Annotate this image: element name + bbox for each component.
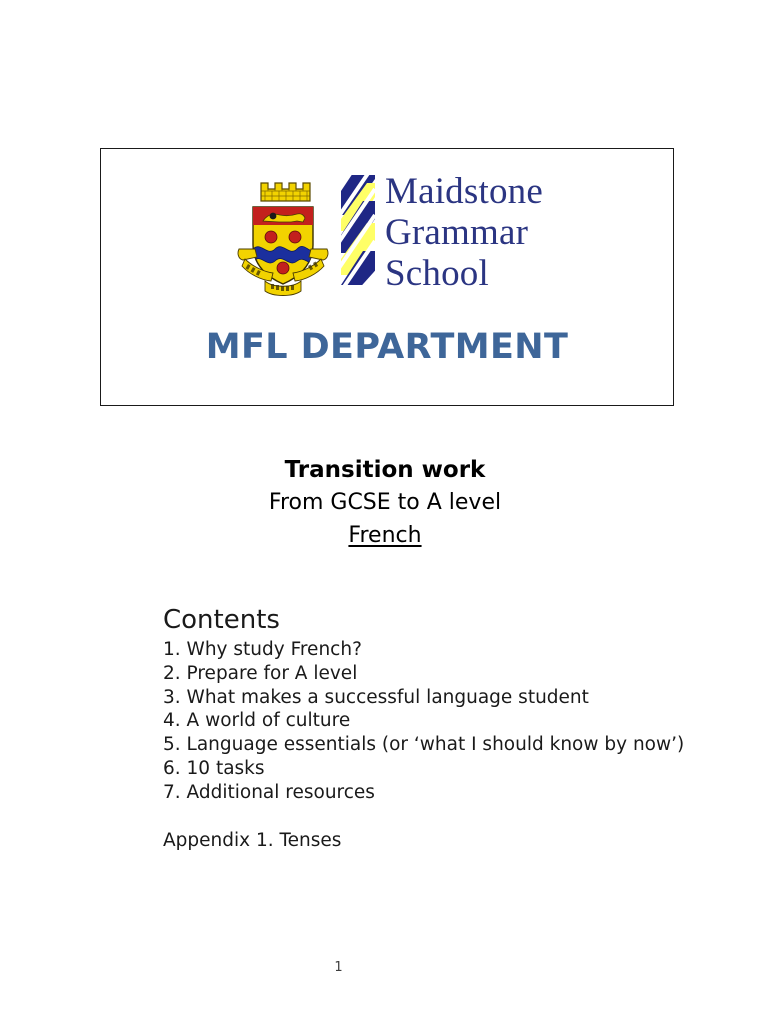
- contents-item: 4. A world of culture: [163, 709, 723, 733]
- department-title: MFL DEPARTMENT: [101, 327, 673, 367]
- contents-item: 2. Prepare for A level: [163, 662, 723, 686]
- school-crest-icon: [231, 171, 335, 299]
- diagonal-stripe-bar-icon: [341, 175, 375, 285]
- document-language: French: [347, 523, 422, 548]
- document-title: Transition work: [0, 455, 770, 486]
- document-language-wrap: French: [0, 519, 770, 554]
- contents-item: 1. Why study French?: [163, 638, 723, 662]
- contents-list: 1. Why study French? 2. Prepare for A le…: [163, 638, 723, 805]
- appendix-entry: Appendix 1. Tenses: [163, 829, 723, 853]
- page-number: 1: [0, 960, 677, 975]
- crest-crown: [261, 183, 310, 201]
- contents-item: 6. 10 tasks: [163, 757, 723, 781]
- header-logo-box: Maidstone Grammar School MFL DEPARTMENT: [100, 148, 674, 406]
- school-name: Maidstone Grammar School: [385, 171, 543, 294]
- school-name-line-1: Maidstone: [385, 171, 543, 212]
- contents-item: 3. What makes a successful language stud…: [163, 686, 723, 710]
- document-subtitle: From GCSE to A level: [0, 486, 770, 519]
- contents-item: 5. Language essentials (or ‘what I shoul…: [163, 733, 723, 757]
- school-logo-lockup: Maidstone Grammar School: [101, 171, 673, 299]
- contents-heading: Contents: [163, 604, 723, 636]
- school-name-line-2: Grammar: [385, 212, 543, 253]
- document-title-block: Transition work From GCSE to A level Fre…: [0, 455, 770, 554]
- contents-block: Contents 1. Why study French? 2. Prepare…: [163, 604, 723, 852]
- contents-item: 7. Additional resources: [163, 781, 723, 805]
- school-name-line-3: School: [385, 253, 543, 294]
- document-page: Maidstone Grammar School MFL DEPARTMENT …: [0, 0, 770, 1024]
